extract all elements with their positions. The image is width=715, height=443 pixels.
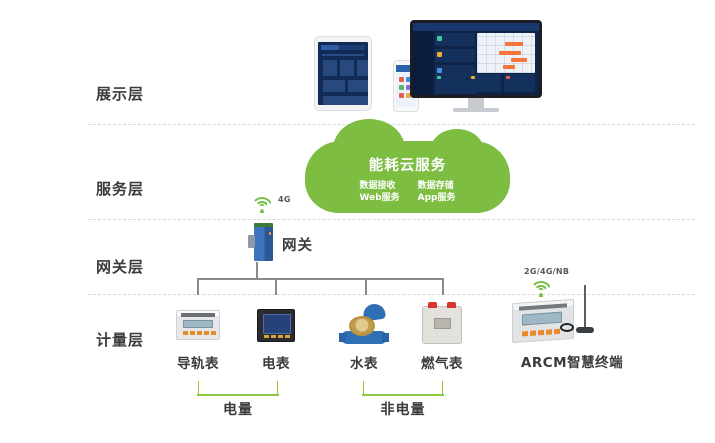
- arcm-terminal-label: ARCM智慧终端: [486, 351, 658, 371]
- antenna-cable: [560, 323, 574, 332]
- arcm-terminal-icon: [512, 299, 574, 343]
- layer-label-service: 服务层: [96, 178, 186, 199]
- group-bracket-non-electric: [363, 381, 443, 394]
- cloud-service-item: App服务: [418, 192, 456, 204]
- cloud-title: 能耗云服务: [369, 154, 447, 175]
- monitor-screen: [413, 23, 539, 95]
- display-layer-devices: [300, 8, 550, 120]
- meter-water: 水表: [326, 300, 402, 372]
- meter-gas: 燃气表: [404, 300, 480, 372]
- water-meter-icon: [341, 304, 387, 346]
- group-bracket-electric: [198, 381, 278, 394]
- panel-electric-meter-icon: [257, 309, 295, 342]
- desktop-monitor-icon: [410, 20, 542, 100]
- wifi-signal-icon: [528, 279, 554, 297]
- dashboard-map-panel: [477, 33, 535, 73]
- din-rail-meter-icon: [176, 310, 220, 340]
- group-label-non-electric: 非电量: [343, 399, 463, 419]
- monitor-bezel: [410, 20, 542, 98]
- gateway-label: 网关: [282, 234, 313, 255]
- monitor-neck: [468, 98, 484, 108]
- meter-label: 水表: [326, 352, 402, 372]
- gateway-network-tag: 4G: [278, 195, 291, 204]
- meter-layer-devices: 导轨表 电表 水表 燃气表: [160, 300, 460, 380]
- gateway-to-meters-connector: [190, 262, 450, 296]
- gateway-device-icon: [248, 223, 274, 261]
- monitor-stand: [453, 108, 499, 112]
- tablet-icon: [314, 36, 372, 111]
- gas-meter-icon: [422, 306, 462, 344]
- wifi-signal-icon: [250, 196, 274, 213]
- cloud-service-column-1: 数据接收 Web服务: [359, 180, 399, 204]
- meter-label: 燃气表: [404, 352, 480, 372]
- cloud-service-item: 数据存储: [418, 180, 456, 192]
- tablet-screen: [318, 42, 368, 105]
- layer-label-display: 展示层: [96, 83, 186, 104]
- group-label-electric: 电量: [178, 399, 298, 419]
- cloud-service-item: Web服务: [359, 192, 399, 204]
- cloud-service-column-2: 数据存储 App服务: [418, 180, 456, 204]
- arcm-terminal-node: 2G/4G/NB ARCM智慧终端: [498, 265, 648, 375]
- cloud-service-item: 数据接收: [359, 180, 399, 192]
- meter-label: 导轨表: [160, 352, 236, 372]
- antenna-base: [576, 327, 594, 333]
- meter-electric: 电表: [238, 300, 314, 372]
- cloud-service-node: 能耗云服务 数据接收 Web服务 数据存储 App服务: [305, 141, 510, 213]
- meter-label: 电表: [238, 352, 314, 372]
- meter-din-rail: 导轨表: [160, 300, 236, 372]
- layer-label-gateway: 网关层: [96, 256, 186, 277]
- layer-divider-service-gateway: [88, 219, 695, 220]
- arcm-network-tag: 2G/4G/NB: [524, 267, 569, 276]
- antenna-icon: [584, 285, 586, 329]
